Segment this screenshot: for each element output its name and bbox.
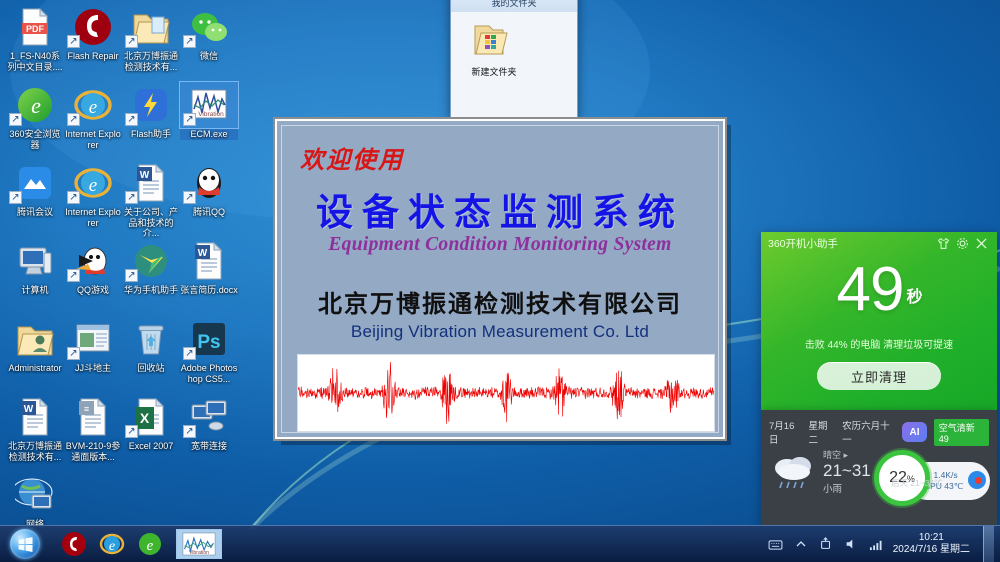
desktop-icon-browser-360[interactable]: e↗360安全浏览器 — [6, 82, 64, 150]
desktop-icon-administrator-folder[interactable]: Administrator — [6, 316, 64, 374]
recycle-bin-icon — [122, 316, 180, 362]
desktop-icon-label: 北京万博振通检测技术有... — [6, 441, 64, 462]
network-signal-icon[interactable] — [868, 536, 884, 552]
shortcut-arrow-icon: ↗ — [125, 191, 138, 204]
desktop-icon-wechat[interactable]: ↗微信 — [180, 4, 238, 62]
desktop-icon-ecm-exe[interactable]: Vibration↗ECM.exe — [180, 82, 238, 140]
desktop-icon-bvm-doc[interactable]: ≡BVM-210-9参通面版本... — [64, 394, 122, 462]
desktop-icon-excel-2007[interactable]: X↗Excel 2007 — [122, 394, 180, 452]
shortcut-arrow-icon: ↗ — [125, 35, 138, 48]
desktop-icon-label: ECM.exe — [180, 129, 238, 140]
360-widget-subtitle: 击败 44% 的电脑 清理垃圾可提速 — [761, 336, 997, 351]
flash-repair-icon: ↗ — [64, 4, 122, 50]
splash-subtitle: Equipment Condition Monitoring System — [282, 234, 718, 256]
shortcut-arrow-icon: ↗ — [125, 425, 138, 438]
svg-text:W: W — [24, 404, 34, 415]
shortcut-arrow-icon: ↗ — [183, 35, 196, 48]
svg-text:X: X — [140, 410, 150, 426]
360-boot-assistant-widget[interactable]: 360开机小助手 49秒 击败 44% 的电脑 清理垃圾可提速 立即清理 — [761, 232, 997, 410]
network-icon — [6, 472, 64, 518]
360-seconds-unit: 秒 — [906, 289, 921, 306]
ai-button[interactable]: AI — [902, 422, 926, 442]
volume-icon[interactable] — [843, 536, 859, 552]
company-doc-icon: W — [6, 394, 64, 440]
desktop-icon-label: QQ游戏 — [64, 285, 122, 296]
svg-text:PDF: PDF — [26, 24, 45, 34]
desktop-icon-broadband-connection[interactable]: ↗宽带连接 — [180, 394, 238, 452]
taskbar[interactable]: e e Vibration 10:21 2024/7/1 — [0, 525, 1000, 562]
taskbar-window-button-ecm[interactable]: Vibration — [176, 529, 222, 559]
svg-text:Vibration: Vibration — [189, 550, 209, 556]
jj-keyboard-king-icon: ↗ — [64, 316, 122, 362]
desktop-icon-label: 360安全浏览器 — [6, 129, 64, 150]
clock-date: 2024/7/16 星期二 — [893, 544, 970, 556]
broadband-connection-icon: ↗ — [180, 394, 238, 440]
huawei-phone-assistant-icon: ↗ — [122, 238, 180, 284]
shortcut-arrow-icon: ↗ — [67, 269, 80, 282]
flash-helper-icon: ↗ — [122, 82, 180, 128]
svg-text:Vibration: Vibration — [198, 111, 224, 118]
taskbar-flash-player-icon[interactable] — [60, 530, 88, 558]
rain-cloud-icon — [769, 451, 821, 493]
resume-doc-icon: W — [180, 238, 238, 284]
desktop-icon-label: Flash助手 — [122, 129, 180, 140]
notification-dot — [975, 477, 982, 484]
svg-text:e: e — [147, 538, 154, 554]
desktop-icon-qq-games[interactable]: ↗QQ游戏 — [64, 238, 122, 296]
weather-temp-range: 21~31 — [823, 461, 871, 481]
quick-launch-bar: e e — [60, 530, 164, 558]
safely-remove-hardware-icon[interactable] — [818, 536, 834, 552]
desktop-icon-label: 微信 — [180, 51, 238, 62]
company-folder-icon: ↗ — [122, 4, 180, 50]
svg-text:W: W — [140, 170, 150, 181]
show-hidden-icons-icon[interactable] — [793, 536, 809, 552]
desktop-icon-grid: PDF1_FS-N40系列中文目录....↗Flash Repair↗北京万博振… — [0, 0, 250, 525]
desktop-icon-label: Adobe Photoshop CS5... — [180, 363, 238, 384]
air-quality-badge: 空气清新 49 — [934, 419, 989, 446]
internet-explorer-icon: e↗ — [64, 82, 122, 128]
vibration-waveform-chart — [297, 354, 715, 432]
waveform-svg — [298, 355, 714, 431]
weather-label: 晴空 ▸ — [823, 448, 871, 461]
folder-icon — [472, 20, 516, 58]
system-tray: 10:21 2024/7/16 星期二 — [768, 526, 1000, 562]
splash-title: 设备状态监测系统 — [282, 182, 718, 236]
chevron-right-icon[interactable]: ▸ — [844, 450, 849, 460]
ime-icon[interactable] — [768, 536, 784, 552]
about-company-doc-icon: W↗ — [122, 160, 180, 206]
splash-company-en: Beijing Vibration Measurement Co. Ltd — [282, 322, 718, 342]
360-widget-header: 360开机小助手 — [761, 232, 997, 254]
desktop-icon-tencent-qq[interactable]: ↗腾讯QQ — [180, 160, 238, 218]
explorer-window[interactable]: 我的文件夹 新建文件夹 — [450, 0, 578, 118]
desktop-icon-my-computer[interactable]: 计算机 — [6, 238, 64, 296]
desktop-icon-recycle-bin[interactable]: 回收站 — [122, 316, 180, 374]
add-button[interactable]: + — [968, 471, 986, 489]
shortcut-arrow-icon: ↗ — [183, 191, 196, 204]
desktop-icon-label: Internet Explorer — [64, 207, 122, 228]
desktop-icon-pdf-doc[interactable]: PDF1_FS-N40系列中文目录.... — [6, 4, 64, 72]
desktop-icon-flash-helper[interactable]: ↗Flash助手 — [122, 82, 180, 140]
ecm-waveform-icon: Vibration — [182, 532, 216, 556]
svg-text:Ps: Ps — [197, 332, 220, 353]
shortcut-arrow-icon: ↗ — [183, 425, 196, 438]
explorer-folder-label: 新建文件夹 — [459, 65, 529, 78]
desktop-icon-label: Excel 2007 — [122, 441, 180, 452]
shortcut-arrow-icon: ↗ — [125, 113, 138, 126]
my-computer-icon — [6, 238, 64, 284]
weather-widget-header: 7月16日 星期二 农历六月十一 AI 空气清新 49 — [761, 410, 997, 446]
ecm-exe-icon: Vibration↗ — [180, 82, 238, 128]
desktop-icon-resume-doc[interactable]: W张言简历.docx — [180, 238, 238, 296]
desktop-icon-tencent-meeting[interactable]: ↗腾讯会议 — [6, 160, 64, 218]
photoshop-icon: Ps↗ — [180, 316, 238, 362]
desktop-icon-company-folder[interactable]: ↗北京万博振通检测技术有... — [122, 4, 180, 72]
desktop-icon-label: 1_FS-N40系列中文目录.... — [6, 51, 64, 72]
gear-icon[interactable] — [954, 235, 971, 252]
clock[interactable]: 10:21 2024/7/16 星期二 — [893, 532, 970, 556]
desktop-icon-label: 腾讯会议 — [6, 207, 64, 218]
shortcut-arrow-icon: ↗ — [67, 191, 80, 204]
desktop-icon-internet-explorer[interactable]: e↗Internet Explorer — [64, 82, 122, 150]
weather-label-text: 晴空 — [823, 450, 841, 460]
tencent-qq-icon: ↗ — [180, 160, 238, 206]
svg-text:e: e — [89, 97, 97, 118]
shortcut-arrow-icon: ↗ — [125, 269, 138, 282]
desktop-icon-label: 回收站 — [122, 363, 180, 374]
splash-welcome-text: 欢迎使用 — [300, 140, 404, 175]
shortcut-arrow-icon: ↗ — [67, 35, 80, 48]
desktop-icon-label: 关于公司、产品和技术的介... — [122, 207, 180, 239]
splash-company-cn: 北京万博振通检测技术有限公司 — [282, 284, 718, 319]
start-button[interactable] — [2, 526, 48, 562]
desktop-icon-huawei-phone-assistant[interactable]: ↗华为手机助手 — [122, 238, 180, 296]
show-desktop-button[interactable] — [983, 526, 994, 562]
browser-360-icon: e↗ — [6, 82, 64, 128]
desktop-icon-company-doc[interactable]: W北京万博振通检测技术有... — [6, 394, 64, 462]
taskbar-internet-explorer-icon[interactable]: e — [98, 530, 126, 558]
desktop-icon-network[interactable]: 网络 — [6, 472, 64, 530]
360-widget-title: 360开机小助手 — [768, 236, 933, 251]
desktop-icon-label: Internet Explorer — [64, 129, 122, 150]
desktop-icon-label: JJ斗地主 — [64, 363, 122, 374]
desktop-icon-flash-repair[interactable]: ↗Flash Repair — [64, 4, 122, 62]
weather-condition: 小雨 — [823, 481, 871, 495]
svg-text:≡: ≡ — [84, 404, 89, 414]
splash-window[interactable]: 欢迎使用 设备状态监测系统 Equipment Condition Monito… — [275, 119, 725, 439]
administrator-folder-icon — [6, 316, 64, 362]
weather-date: 7月16日 — [769, 418, 802, 446]
desktop-icon-photoshop[interactable]: Ps↗Adobe Photoshop CS5... — [180, 316, 238, 384]
desktop-icon-label: Flash Repair — [64, 51, 122, 62]
explorer-window-title: 我的文件夹 — [451, 0, 577, 12]
splash-inner: 欢迎使用 设备状态监测系统 Equipment Condition Monito… — [281, 125, 719, 433]
desktop-icon-label: Administrator — [6, 363, 64, 374]
weather-forecast: 后天 21~34℃ — [891, 477, 943, 489]
desktop-icon-internet-explorer-2[interactable]: e↗Internet Explorer — [64, 160, 122, 228]
bvm-doc-icon: ≡ — [64, 394, 122, 440]
windows-logo-icon — [10, 529, 40, 559]
svg-text:e: e — [109, 539, 115, 554]
desktop-icon-label: 北京万博振通检测技术有... — [122, 51, 180, 72]
excel-2007-icon: X↗ — [122, 394, 180, 440]
explorer-folder-item[interactable]: 新建文件夹 — [459, 20, 529, 78]
weather-temperature-block: 晴空 ▸ 21~31 小雨 — [823, 448, 871, 495]
internet-explorer-2-icon: e↗ — [64, 160, 122, 206]
shortcut-arrow-icon: ↗ — [67, 113, 80, 126]
taskbar-360-browser-icon[interactable]: e — [136, 530, 164, 558]
desktop-icon-label: 腾讯QQ — [180, 207, 238, 218]
desktop-icon-label: 华为手机助手 — [122, 285, 180, 296]
shortcut-arrow-icon: ↗ — [183, 347, 196, 360]
360-boot-seconds: 49秒 — [761, 260, 997, 328]
clean-now-button[interactable]: 立即清理 — [817, 362, 941, 390]
360-seconds-value: 49 — [837, 255, 904, 324]
shortcut-arrow-icon: ↗ — [9, 113, 22, 126]
weather-weekday: 星期二 — [809, 418, 836, 446]
shortcut-arrow-icon: ↗ — [67, 347, 80, 360]
tencent-meeting-icon: ↗ — [6, 160, 64, 206]
desktop-icon-label: BVM-210-9参通面版本... — [64, 441, 122, 462]
weather-lunar: 农历六月十一 — [842, 418, 895, 446]
shirt-icon[interactable] — [935, 235, 952, 252]
desktop-icon-jj-keyboard-king[interactable]: ↗JJ斗地主 — [64, 316, 122, 374]
weather-widget-body: 晴空 ▸ 21~31 小雨 ✔ 1.4K/s CPU 43℃ + 22% 后天 … — [761, 446, 997, 495]
svg-text:e: e — [31, 93, 41, 118]
qq-games-icon: ↗ — [64, 238, 122, 284]
desktop-icon-label: 张言简历.docx — [180, 285, 238, 296]
close-icon[interactable] — [973, 235, 990, 252]
desktop-icon-label: 宽带连接 — [180, 441, 238, 452]
desktop-icon-about-company-doc[interactable]: W↗关于公司、产品和技术的介... — [122, 160, 180, 239]
desktop-icon-label: 计算机 — [6, 285, 64, 296]
svg-text:W: W — [198, 248, 208, 259]
shortcut-arrow-icon: ↗ — [9, 191, 22, 204]
svg-text:e: e — [89, 175, 97, 196]
clock-time: 10:21 — [893, 532, 970, 544]
wechat-icon: ↗ — [180, 4, 238, 50]
weather-widget[interactable]: 7月16日 星期二 农历六月十一 AI 空气清新 49 晴空 ▸ 21~31 小… — [761, 410, 997, 525]
shortcut-arrow-icon: ↗ — [183, 113, 196, 126]
pdf-doc-icon: PDF — [6, 4, 64, 50]
